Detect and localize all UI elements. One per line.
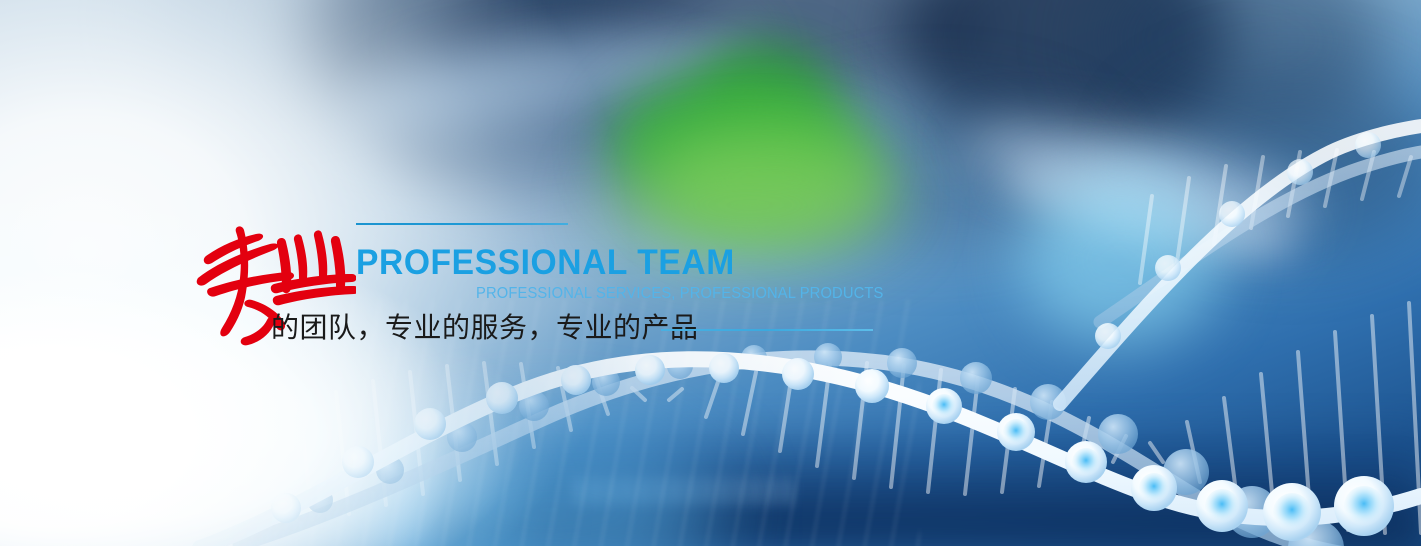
blur-shape-cyan-1 [1020, 175, 1220, 345]
rule-above-headline [356, 223, 568, 225]
blur-shape-green-3 [600, 150, 900, 260]
hero-banner: PROFESSIONAL TEAM PROFESSIONAL SERVICES,… [0, 0, 1421, 546]
background-white-veil [0, 250, 700, 546]
